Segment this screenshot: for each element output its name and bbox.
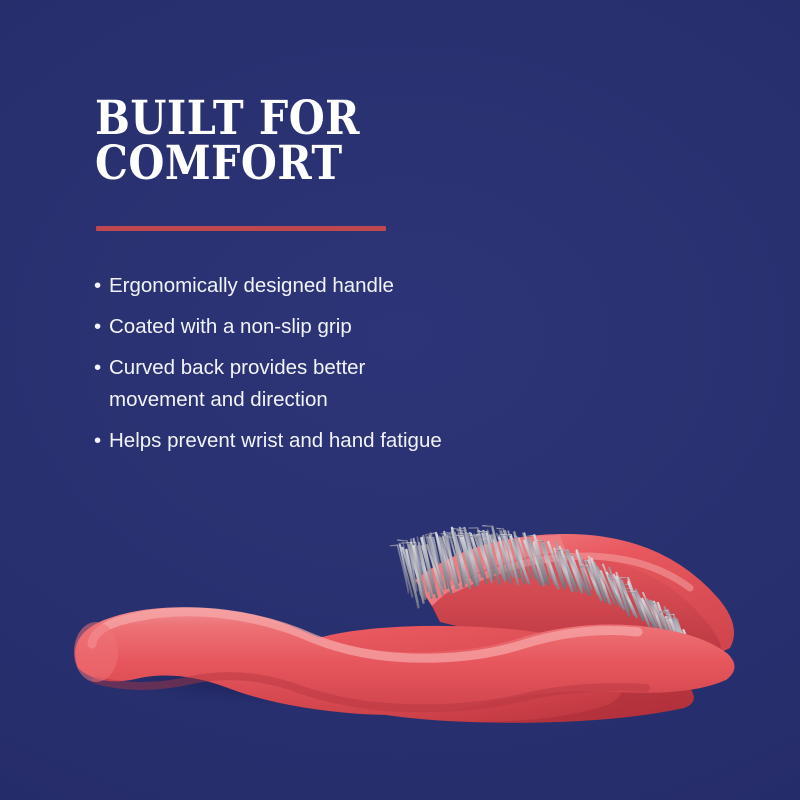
- list-item-label: Curved back provides better movement and…: [109, 352, 534, 416]
- list-item: • Coated with a non-slip grip: [94, 311, 534, 343]
- list-item-label: Ergonomically designed handle: [109, 270, 534, 302]
- bristle-pin-tip: [537, 540, 543, 541]
- bristle-pin-tip: [497, 528, 503, 529]
- bullet-icon: •: [94, 270, 109, 302]
- bristle-pin-tip: [483, 526, 493, 527]
- product-image: [0, 430, 800, 760]
- bristle-pin-tip: [426, 533, 436, 535]
- bristle-pin-tip: [456, 536, 462, 537]
- handle-end-cap: [74, 622, 118, 682]
- list-item: • Ergonomically designed handle: [94, 270, 534, 302]
- bristle-pin-tip: [664, 618, 673, 619]
- promo-canvas: BUILT FOR COMFORT • Ergonomically design…: [0, 0, 800, 800]
- bristle-pin-tip: [501, 535, 511, 536]
- bristle-pin-tip: [399, 543, 409, 544]
- divider-rule: [96, 226, 386, 231]
- bullet-icon: •: [94, 352, 109, 384]
- bristle-pin-tip: [620, 578, 628, 579]
- bristle-pin-tip: [627, 592, 635, 593]
- bullet-icon: •: [94, 311, 109, 343]
- bristle-pin-tip: [478, 531, 487, 532]
- list-item-label: Coated with a non-slip grip: [109, 311, 534, 343]
- list-item: • Curved back provides better movement a…: [94, 352, 534, 416]
- bristle-pin-tip: [398, 540, 407, 541]
- page-title: BUILT FOR COMFORT: [95, 96, 465, 186]
- bristle-pin-tip: [390, 545, 397, 546]
